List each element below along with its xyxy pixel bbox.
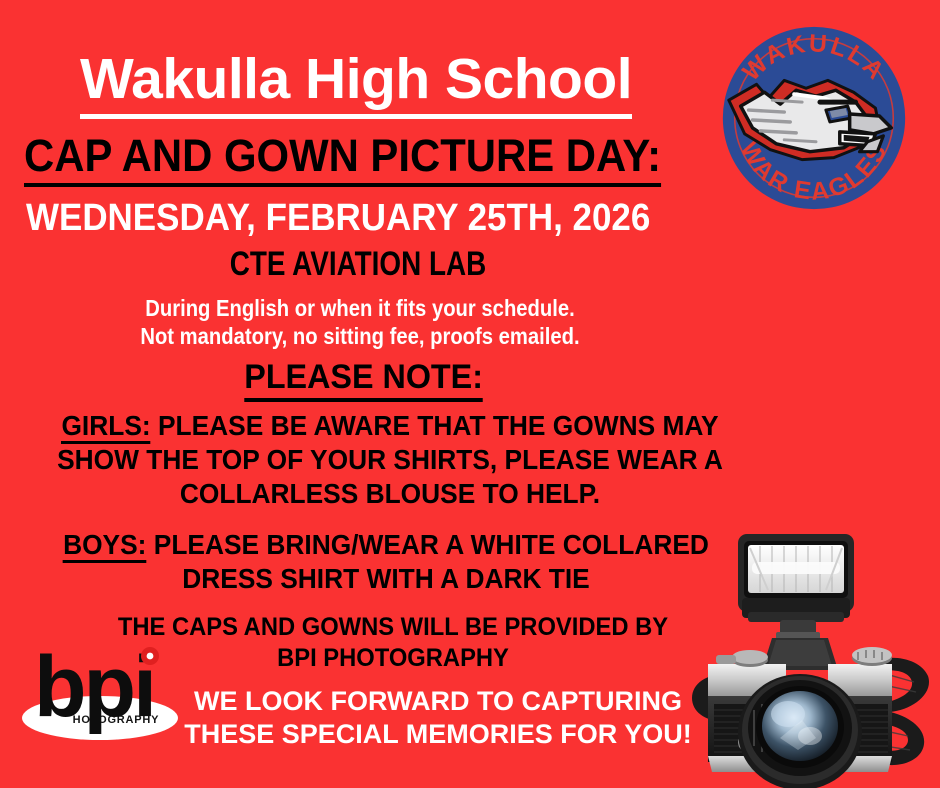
flyer-poster: Wakulla High School CAP AND GOWN PICTURE… (0, 0, 940, 788)
boys-label: BOYS: (63, 529, 146, 563)
schedule-line-2: Not mandatory, no sitting fee, proofs em… (43, 322, 677, 350)
schedule-notes: During English or when it fits your sche… (0, 294, 720, 350)
camera-lens (738, 674, 862, 788)
bpi-photography-logo: HOTOGRAPHY bpi (20, 632, 188, 744)
girls-line-2: SHOW THE TOP OF YOUR SHIRTS, PLEASE WEAR… (31, 443, 749, 477)
school-title-text: Wakulla High School (80, 47, 632, 119)
camera-shutter-button (716, 655, 736, 664)
girls-line-1: GIRLS: PLEASE BE AWARE THAT THE GOWNS MA… (31, 409, 749, 443)
event-date: WEDNESDAY, FEBRUARY 25TH, 2026 (26, 196, 670, 240)
please-note-text: PLEASE NOTE: (245, 357, 484, 402)
boys-line-2: DRESS SHIRT WITH A DARK TIE (31, 562, 742, 596)
page-title: Wakulla High School (0, 48, 712, 110)
girls-line-1-text: PLEASE BE AWARE THAT THE GOWNS MAY (151, 410, 719, 441)
girls-instructions: GIRLS: PLEASE BE AWARE THAT THE GOWNS MA… (8, 409, 772, 511)
bpi-wordmark: bpi (34, 639, 154, 735)
boys-line-1-text: PLEASE BRING/WEAR A WHITE COLLARED (146, 529, 708, 560)
vintage-slr-camera-image (676, 524, 940, 788)
girls-line-3: COLLARLESS BLOUSE TO HELP. (31, 477, 749, 511)
camera-flash-unit (738, 534, 854, 640)
closing-line-2: THESE SPECIAL MEMORIES FOR YOU! (168, 718, 708, 751)
boys-line-1: BOYS: PLEASE BRING/WEAR A WHITE COLLARED (31, 528, 742, 562)
schedule-line-1: During English or when it fits your sche… (43, 294, 677, 322)
event-heading: CAP AND GOWN PICTURE DAY: (24, 131, 649, 181)
event-heading-text: CAP AND GOWN PICTURE DAY: (24, 130, 661, 187)
closing-message: WE LOOK FORWARD TO CAPTURING THESE SPECI… (168, 685, 708, 751)
girls-label: GIRLS: (61, 410, 150, 444)
boys-instructions: BOYS: PLEASE BRING/WEAR A WHITE COLLARED… (8, 528, 764, 596)
wakulla-war-eagles-logo: WAKULLA WAR EAGLES (705, 18, 923, 218)
closing-line-1: WE LOOK FORWARD TO CAPTURING (168, 685, 708, 718)
event-venue: CTE AVIATION LAB (64, 244, 651, 284)
please-note-heading: PLEASE NOTE: (0, 357, 728, 402)
